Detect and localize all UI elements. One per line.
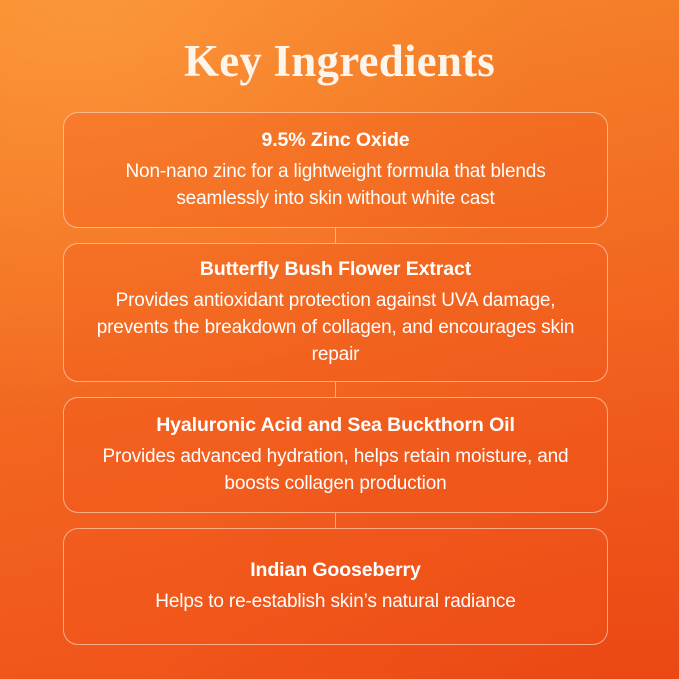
ingredient-card-list: 9.5% Zinc Oxide Non-nano zinc for a ligh… [63, 112, 608, 645]
ingredient-description: Provides advanced hydration, helps retai… [86, 443, 585, 497]
ingredient-description: Provides antioxidant protection against … [86, 287, 585, 368]
ingredient-name: Indian Gooseberry [86, 557, 585, 583]
card-connector-line [63, 382, 608, 397]
ingredient-card: Butterfly Bush Flower Extract Provides a… [63, 243, 608, 382]
ingredient-card: Hyaluronic Acid and Sea Buckthorn Oil Pr… [63, 397, 608, 513]
ingredient-name: Butterfly Bush Flower Extract [86, 256, 585, 282]
ingredient-card: Indian Gooseberry Helps to re-establish … [63, 528, 608, 645]
ingredient-description: Helps to re-establish skin’s natural rad… [86, 588, 585, 615]
card-connector-line [63, 228, 608, 243]
ingredient-name: Hyaluronic Acid and Sea Buckthorn Oil [86, 412, 585, 438]
card-connector-line [63, 513, 608, 528]
ingredient-card: 9.5% Zinc Oxide Non-nano zinc for a ligh… [63, 112, 608, 228]
page-title: Key Ingredients [0, 33, 679, 89]
key-ingredients-poster: Key Ingredients 9.5% Zinc Oxide Non-nano… [0, 0, 679, 679]
ingredient-name: 9.5% Zinc Oxide [86, 127, 585, 153]
ingredient-description: Non-nano zinc for a lightweight formula … [86, 158, 585, 212]
